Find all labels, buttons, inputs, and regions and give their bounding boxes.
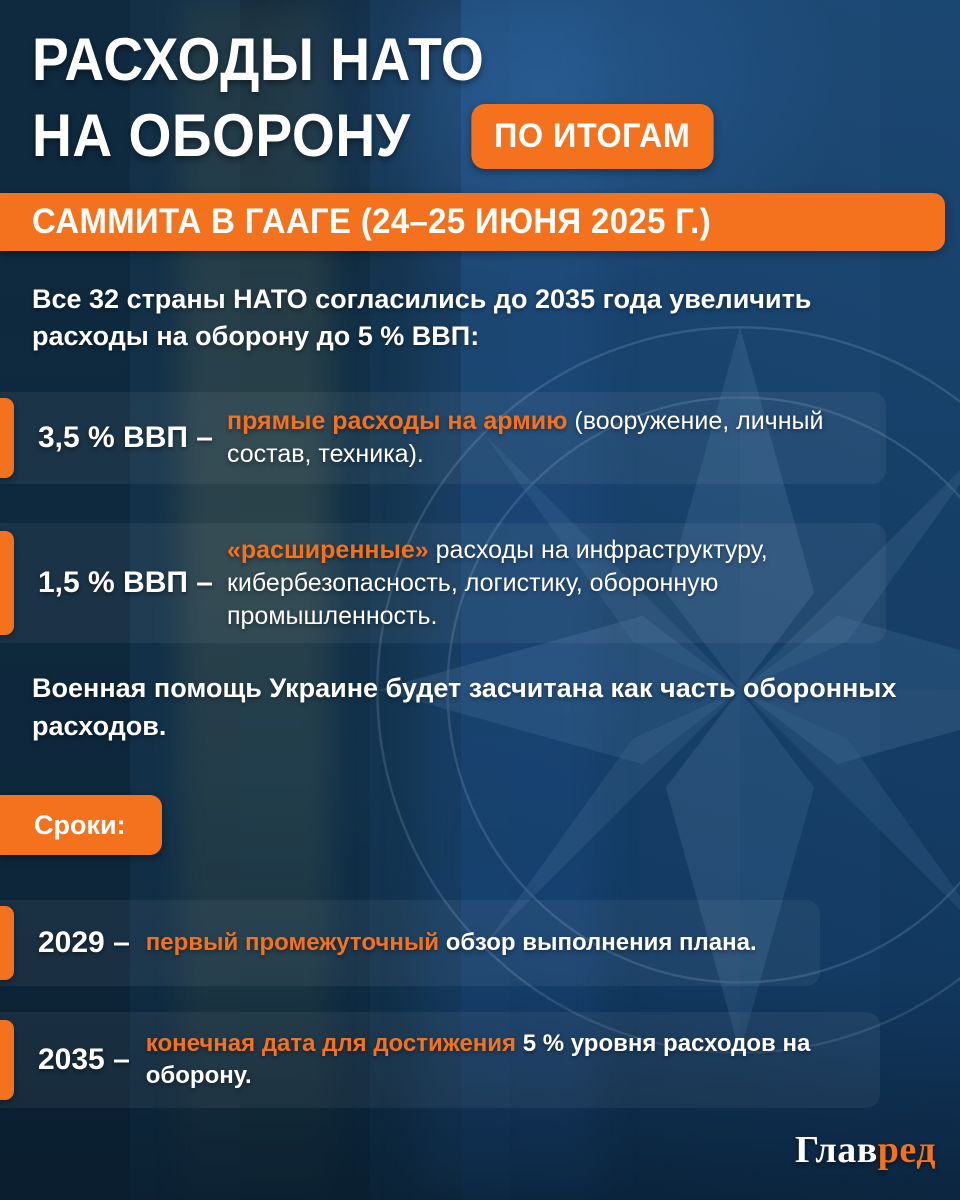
card-key-label: 3,5 % ВВП – [38, 421, 213, 455]
card-description: конечная дата для достижения 5 % уровня … [146, 1028, 826, 1092]
spending-card-extended: 1,5 % ВВП – «расширенные» расходы на инф… [0, 523, 886, 643]
deadline-card-2035: 2035 – конечная дата для достижения 5 % … [0, 1012, 880, 1108]
card-accent-bar [0, 531, 14, 635]
intro-paragraph: Все 32 страны НАТО согласились до 2035 г… [32, 281, 912, 355]
card-highlight-text: конечная дата для достижения [146, 1030, 516, 1057]
spending-card-direct: 3,5 % ВВП – прямые расходы на армию (воо… [0, 392, 886, 484]
logo-part-white: Глав [795, 1129, 878, 1171]
header-title-block: РАСХОДЫ НАТО НА ОБОРОНУ ПО ИТОГАМ [32, 22, 932, 174]
publisher-logo[interactable]: Главред [795, 1128, 936, 1172]
deadlines-badge-label: Сроки: [34, 810, 126, 841]
card-highlight-text: «расширенные» [227, 536, 429, 564]
card-content: 1,5 % ВВП – «расширенные» расходы на инф… [38, 523, 883, 643]
card-description: первый промежуточный обзор выполнения пл… [146, 927, 757, 959]
card-highlight-text: первый промежуточный [146, 929, 439, 956]
card-content: 2035 – конечная дата для достижения 5 % … [38, 1012, 878, 1108]
card-accent-bar [0, 1020, 14, 1100]
infographic-poster: РАСХОДЫ НАТО НА ОБОРОНУ ПО ИТОГАМ САММИТ… [0, 0, 960, 1200]
card-rest-text: обзор выполнения плана. [439, 929, 757, 956]
logo-part-orange: ред [878, 1129, 936, 1171]
card-description: прямые расходы на армию (вооружение, лич… [227, 405, 878, 471]
deadlines-section-badge: Сроки: [0, 795, 162, 855]
card-key-label: 1,5 % ВВП – [38, 566, 213, 600]
page-title-row-2: НА ОБОРОНУ ПО ИТОГАМ [32, 98, 932, 174]
card-content: 3,5 % ВВП – прямые расходы на армию (воо… [38, 392, 878, 484]
card-description: «расширенные» расходы на инфраструктуру,… [227, 534, 867, 633]
card-content: 2029 – первый промежуточный обзор выполн… [38, 900, 818, 986]
page-title-line-1: РАСХОДЫ НАТО [32, 22, 860, 98]
card-key-label: 2035 – [38, 1043, 130, 1077]
page-title-line-2: НА ОБОРОНУ [32, 98, 410, 174]
card-accent-bar [0, 398, 14, 478]
card-highlight-text: прямые расходы на армию [227, 407, 567, 435]
badge-po-itogam: ПО ИТОГАМ [472, 104, 714, 169]
card-key-label: 2029 – [38, 926, 130, 960]
ukraine-aid-statement: Военная помощь Украине будет засчитана к… [32, 669, 912, 745]
summit-subtitle-text: САММИТА В ГААГЕ (24–25 ИЮНЯ 2025 Г.) [32, 202, 711, 242]
card-accent-bar [0, 906, 14, 980]
summit-subtitle-bar: САММИТА В ГААГЕ (24–25 ИЮНЯ 2025 Г.) [0, 193, 945, 251]
deadline-card-2029: 2029 – первый промежуточный обзор выполн… [0, 900, 820, 986]
